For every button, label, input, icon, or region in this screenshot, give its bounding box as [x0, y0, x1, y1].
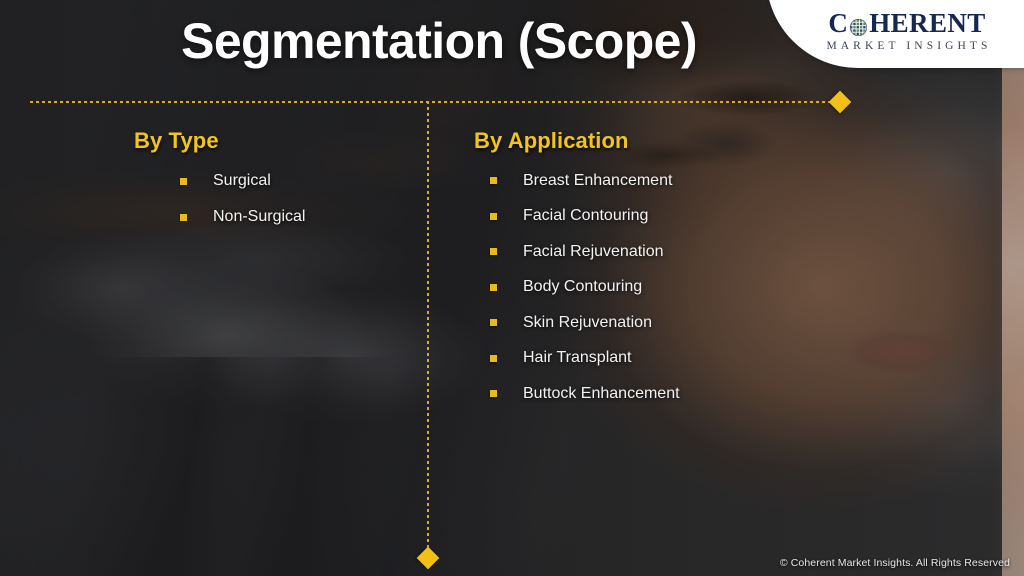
segment-column-by-type: By Type Surgical Non-Surgical — [134, 128, 424, 235]
column-heading-by-type: By Type — [134, 128, 424, 154]
bullet-square-icon — [490, 248, 497, 255]
list-item-label: Non-Surgical — [213, 209, 305, 225]
page-title: Segmentation (Scope) — [0, 12, 1024, 70]
list-item[interactable]: Hair Transplant — [474, 341, 894, 377]
bullet-square-icon — [490, 177, 497, 184]
bullet-square-icon — [490, 213, 497, 220]
list-item-label: Buttock Enhancement — [523, 386, 680, 402]
list-item[interactable]: Buttock Enhancement — [474, 376, 894, 412]
list-item-label: Body Contouring — [523, 279, 642, 295]
list-item[interactable]: Skin Rejuvenation — [474, 305, 894, 341]
list-item[interactable]: Body Contouring — [474, 270, 894, 306]
list-item[interactable]: Facial Rejuvenation — [474, 234, 894, 270]
list-item-label: Facial Contouring — [523, 208, 648, 224]
bullet-square-icon — [180, 214, 187, 221]
by-application-list: Breast Enhancement Facial Contouring Fac… — [474, 163, 894, 412]
list-item[interactable]: Facial Contouring — [474, 199, 894, 235]
slide-canvas: C — [0, 0, 1024, 576]
bullet-square-icon — [490, 390, 497, 397]
dotted-rule-vertical — [427, 101, 429, 553]
list-item-label: Hair Transplant — [523, 350, 632, 366]
list-item-label: Breast Enhancement — [523, 173, 672, 189]
by-type-list: Surgical Non-Surgical — [134, 163, 424, 235]
list-item[interactable]: Surgical — [134, 163, 424, 199]
list-item-label: Facial Rejuvenation — [523, 244, 664, 260]
bullet-square-icon — [490, 355, 497, 362]
segment-column-by-application: By Application Breast Enhancement Facial… — [474, 128, 894, 412]
list-item[interactable]: Breast Enhancement — [474, 163, 894, 199]
copyright-footer: © Coherent Market Insights. All Rights R… — [780, 557, 1010, 569]
bullet-square-icon — [490, 284, 497, 291]
list-item[interactable]: Non-Surgical — [134, 199, 424, 235]
bullet-square-icon — [180, 178, 187, 185]
list-item-label: Surgical — [213, 173, 271, 189]
column-heading-by-application: By Application — [474, 128, 894, 154]
dotted-rule-horizontal — [30, 101, 836, 103]
list-item-label: Skin Rejuvenation — [523, 315, 652, 331]
background-right-edge-strip — [1002, 0, 1024, 576]
bullet-square-icon — [490, 319, 497, 326]
